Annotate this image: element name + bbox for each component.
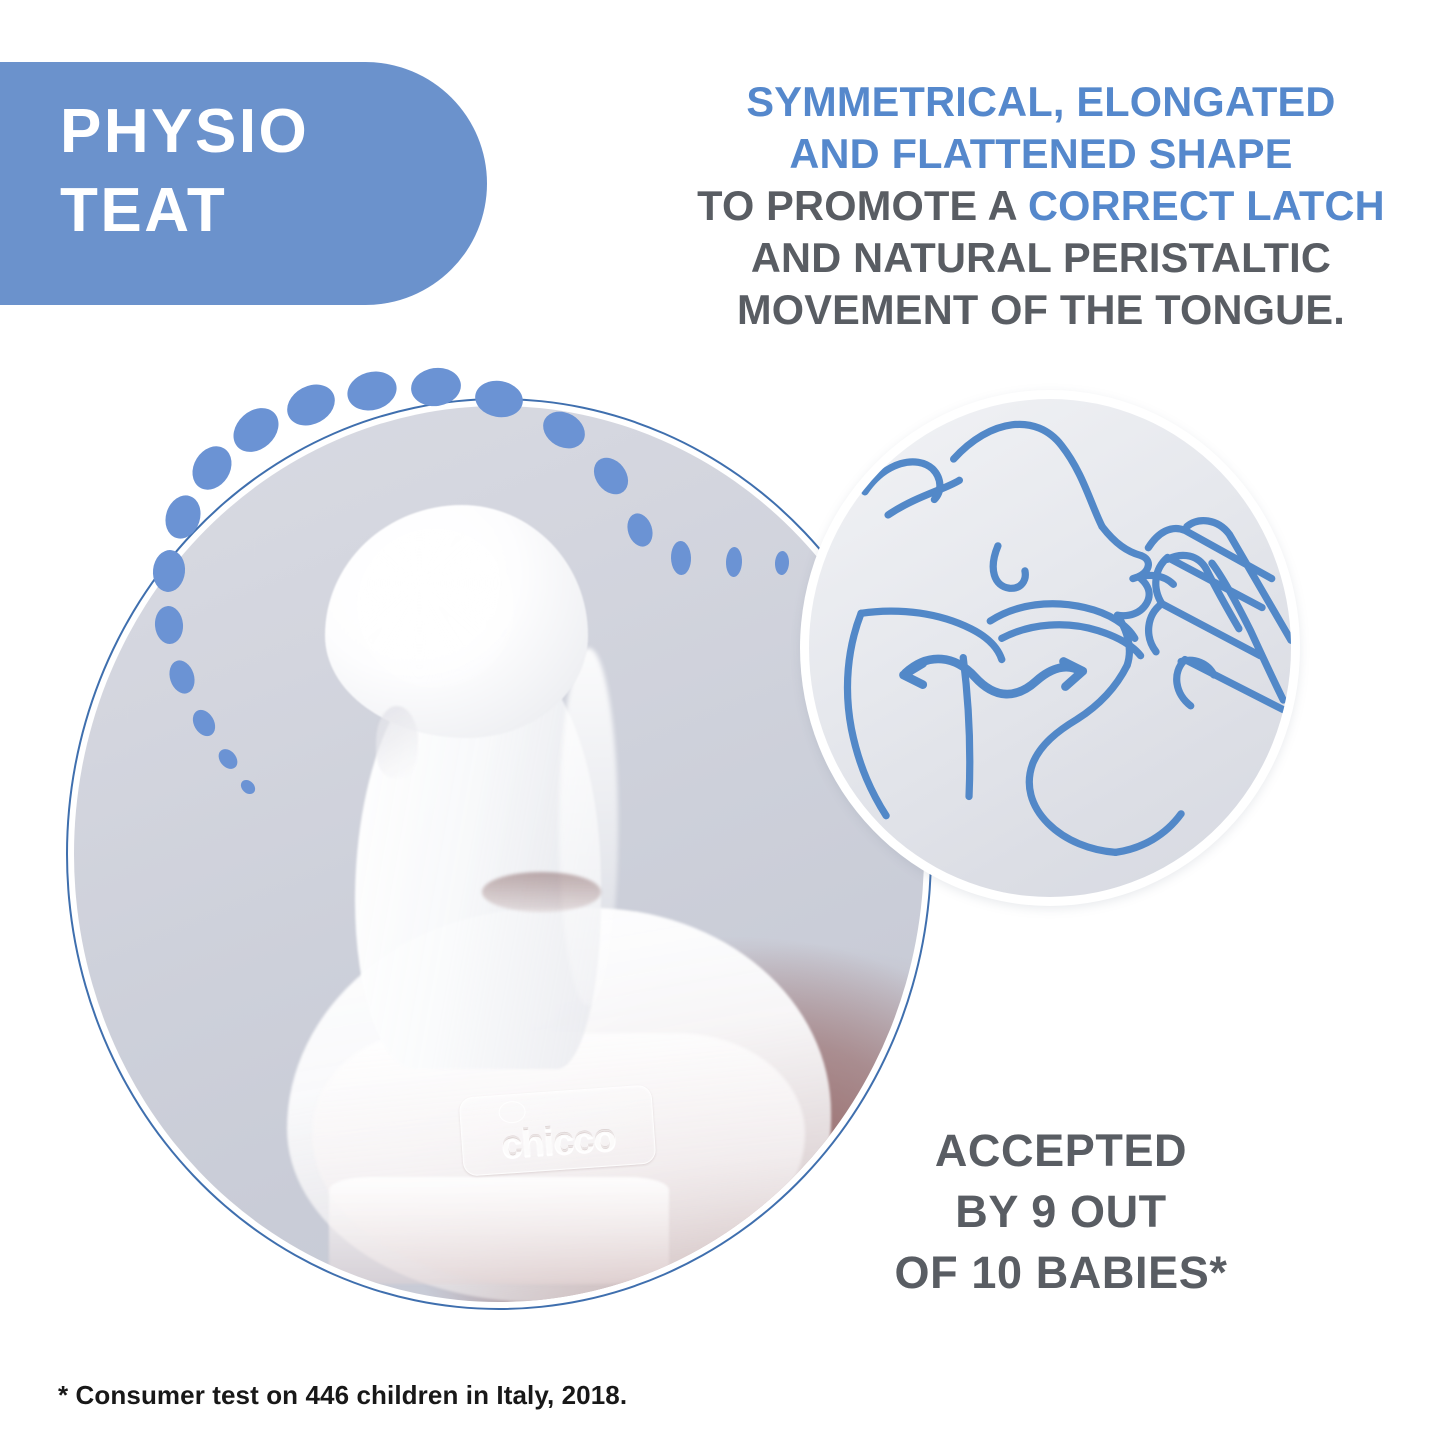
baby-forehead-line [954, 424, 1102, 526]
dash-arc-left [151, 365, 464, 797]
baby-latch-line-drawing [809, 399, 1291, 897]
tongue-wave-arrowhead-right [1063, 661, 1082, 686]
chicco-embossed-logo: chicco [458, 1085, 656, 1177]
tongue-wave-arrow-line [905, 659, 1080, 694]
headline-line-3-blue: CORRECT LATCH [1028, 182, 1385, 229]
baby-nose-line [1102, 527, 1148, 577]
baby-gum-ridge-line [1002, 625, 1141, 656]
headline-line-2: AND FLATTENED SHAPE [672, 128, 1410, 180]
headline-line-1: SYMMETRICAL, ELONGATED [672, 76, 1410, 128]
infographic-canvas: PHYSIO TEAT SYMMETRICAL, ELONGATED AND F… [0, 0, 1445, 1445]
dash-arc-right [472, 377, 829, 577]
badge-line-1: PHYSIO [60, 92, 487, 171]
badge-line-2: TEAT [60, 171, 487, 250]
headline-line-3-gray: TO PROMOTE A [697, 182, 1028, 229]
chicco-logo-dot [498, 1101, 526, 1125]
shape-outline-dashes [120, 355, 840, 885]
baby-tongue-base-line [861, 611, 1002, 659]
claim-line-1: ACCEPTED [830, 1120, 1292, 1181]
headline-block: SYMMETRICAL, ELONGATED AND FLATTENED SHA… [672, 76, 1410, 336]
headline-line-5: MOVEMENT OF THE TONGUE. [672, 284, 1410, 336]
latch-illustration-circle [800, 390, 1300, 906]
baby-closed-eye-line [888, 480, 959, 515]
footnote-text: * Consumer test on 446 children in Italy… [58, 1380, 627, 1411]
headline-line-4: AND NATURAL PERISTALTIC [672, 232, 1410, 284]
claim-line-2: BY 9 OUT [830, 1181, 1292, 1242]
acceptance-claim: ACCEPTED BY 9 OUT OF 10 BABIES* [830, 1120, 1292, 1304]
baby-shoulder-line [1116, 814, 1182, 853]
headline-line-3: TO PROMOTE A CORRECT LATCH [672, 180, 1410, 232]
baby-chin-jaw-line [1029, 665, 1127, 852]
claim-line-3: OF 10 BABIES* [830, 1242, 1292, 1303]
baby-throat-inner-line [963, 658, 970, 797]
baby-neck-line [847, 613, 886, 815]
chicco-logo-text: chicco [461, 1115, 655, 1171]
baby-upper-lip-line [1117, 577, 1149, 616]
teat-collar-ring [329, 1177, 669, 1285]
physio-teat-badge: PHYSIO TEAT [0, 62, 487, 305]
latch-illustration-image [809, 399, 1291, 897]
baby-nostril-line [993, 546, 1025, 588]
